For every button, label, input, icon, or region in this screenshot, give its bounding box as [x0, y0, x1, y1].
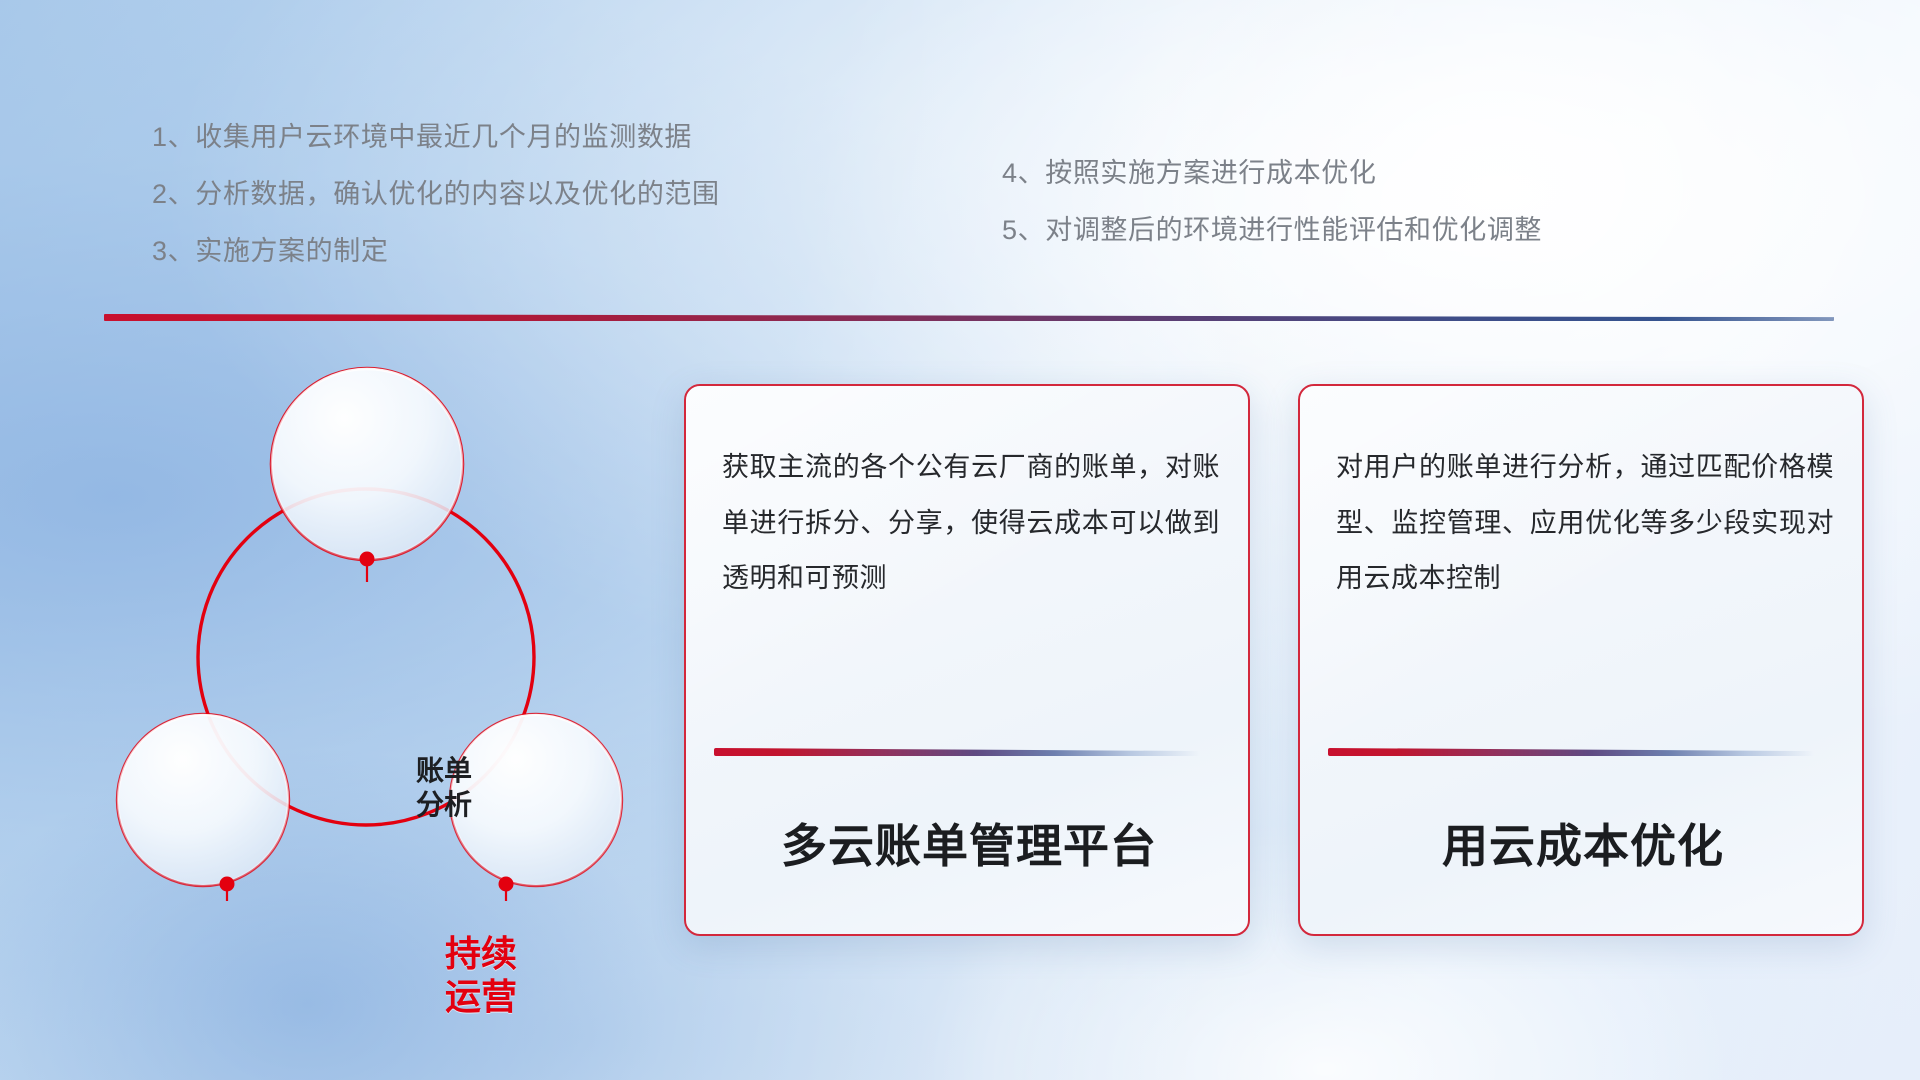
card-title: 用云成本优化 [1328, 810, 1838, 876]
bubble-ops [118, 715, 288, 885]
step-item-4: 4、按照实施方案进行成本优化 [1002, 160, 1542, 187]
venn-center-label: 持续 运营 [386, 932, 576, 1018]
step-item-1: 1、收集用户云环境中最近几个月的监测数据 [152, 124, 720, 151]
node-dot-ops [220, 877, 235, 892]
slide-canvas: 1、收集用户云环境中最近几个月的监测数据 2、分析数据，确认优化的内容以及优化的… [0, 0, 1920, 1080]
node-dot-billing [360, 552, 375, 567]
step-item-3: 3、实施方案的制定 [152, 238, 720, 265]
node-dot-strategy [499, 877, 514, 892]
steps-list-left: 1、收集用户云环境中最近几个月的监测数据 2、分析数据，确认优化的内容以及优化的… [152, 124, 720, 295]
card-cloud-cost-optimization[interactable]: 对用户的账单进行分析，通过匹配价格模型、监控管理、应用优化等多少段实现对用云成本… [1298, 384, 1864, 936]
steps-list-right: 4、按照实施方案进行成本优化 5、对调整后的环境进行性能评估和优化调整 [1002, 160, 1542, 274]
venn-label-billing-analysis: 账单 分析 [364, 754, 524, 822]
step-item-2: 2、分析数据，确认优化的内容以及优化的范围 [152, 181, 720, 208]
bubble-billing [272, 369, 462, 559]
card-divider-bar [714, 748, 1200, 756]
card-divider-bar [1328, 748, 1814, 756]
card-multi-cloud-billing-platform[interactable]: 获取主流的各个公有云厂商的账单，对账单进行拆分、分享，使得云成本可以做到透明和可… [684, 384, 1250, 936]
venn-svg [96, 352, 656, 952]
continuous-operation-diagram: 账单 分析 操作 运营 优化 策略 持续 运营 [96, 352, 656, 952]
card-body-text: 获取主流的各个公有云厂商的账单，对账单进行拆分、分享，使得云成本可以做到透明和可… [722, 440, 1220, 607]
card-body-text: 对用户的账单进行分析，通过匹配价格模型、监控管理、应用优化等多少段实现对用云成本… [1336, 440, 1834, 607]
card-title: 多云账单管理平台 [714, 810, 1224, 876]
step-item-5: 5、对调整后的环境进行性能评估和优化调整 [1002, 217, 1542, 244]
